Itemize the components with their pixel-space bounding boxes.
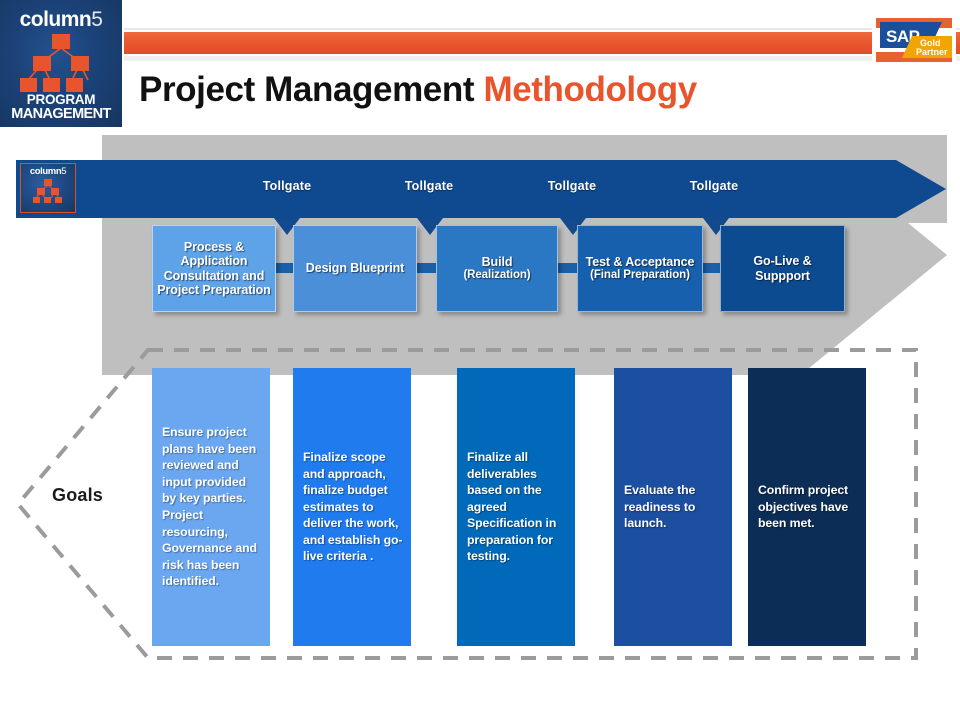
goals-label: Goals [52, 485, 103, 506]
svg-text:Partner: Partner [916, 47, 948, 57]
phase-connector-1 [276, 263, 293, 273]
page-title-main: Project Management [139, 70, 483, 109]
banner-badge-wordmark: column5 [21, 167, 75, 177]
phase-box-label: Design Blueprint [306, 261, 404, 275]
hierarchy-tree-icon [14, 34, 108, 96]
header-orange-bar [122, 32, 960, 54]
goal-column-text: Ensure project plans have been reviewed … [152, 424, 270, 590]
phase-box-label: Build [463, 255, 530, 269]
brand-logo-footer-line1: PROGRAM [0, 93, 122, 107]
tollgate-label-2: Tollgate [381, 179, 477, 193]
brand-logo-footer-line2: MANAGEMENT [0, 107, 122, 122]
tollgate-label-3: Tollgate [524, 179, 620, 193]
phase-connector-2 [417, 263, 436, 273]
banner-badge-word-main: column [30, 166, 61, 177]
goal-column-4[interactable]: Evaluate the readiness to launch. [614, 368, 732, 646]
phase-box-4[interactable]: Test & Acceptance(Final Preparation) [577, 225, 703, 312]
goal-column-text: Finalize scope and approach, finalize bu… [293, 449, 411, 565]
phase-banner-arrow [16, 160, 946, 218]
banner-brand-badge[interactable]: column5 [20, 163, 76, 213]
goal-column-1[interactable]: Ensure project plans have been reviewed … [152, 368, 270, 646]
phase-box-label: Test & Acceptance [586, 255, 695, 269]
page-title: Project Management Methodology [139, 70, 697, 110]
page-title-accent: Methodology [483, 70, 696, 109]
goal-column-3[interactable]: Finalize all deliverables based on the a… [457, 368, 575, 646]
goal-column-text: Confirm project objectives have been met… [748, 482, 866, 532]
brand-logo-word-suffix: 5 [91, 8, 102, 31]
goal-column-text: Evaluate the readiness to launch. [614, 482, 732, 532]
sap-gold-partner-logo[interactable]: SAP Gold Partner [872, 14, 956, 66]
header-bottom-rule [122, 56, 960, 61]
phase-box-label: Process & Application Consultation and P… [157, 240, 271, 298]
tollgate-label-1: Tollgate [239, 179, 335, 193]
phase-box-5[interactable]: Go-Live & Suppport [720, 225, 845, 312]
goal-column-5[interactable]: Confirm project objectives have been met… [748, 368, 866, 646]
phase-connector-3 [558, 263, 577, 273]
brand-logo[interactable]: column5 PROGRAM MANAGEMENT [0, 0, 124, 127]
goal-column-2[interactable]: Finalize scope and approach, finalize bu… [293, 368, 411, 646]
phase-box-sublabel: (Realization) [463, 269, 530, 282]
phase-box-3[interactable]: Build(Realization) [436, 225, 558, 312]
brand-logo-word-main: column [20, 8, 92, 31]
brand-logo-wordmark: column5 [0, 9, 122, 30]
brand-logo-footer: PROGRAM MANAGEMENT [0, 93, 122, 122]
phase-box-label: Go-Live & Suppport [725, 254, 840, 283]
tollgate-label-4: Tollgate [666, 179, 762, 193]
goal-column-text: Finalize all deliverables based on the a… [457, 449, 575, 565]
phase-box-1[interactable]: Process & Application Consultation and P… [152, 225, 276, 312]
header-top-rule [122, 28, 960, 30]
slide-canvas: column5 PROGRAM MANAGEMENT SAP Gold Part… [0, 0, 960, 720]
phase-connector-4 [703, 263, 720, 273]
hierarchy-tree-icon [32, 179, 64, 205]
phase-box-sublabel: (Final Preparation) [586, 269, 695, 282]
banner-badge-word-suffix: 5 [61, 166, 66, 177]
phase-box-2[interactable]: Design Blueprint [293, 225, 417, 312]
